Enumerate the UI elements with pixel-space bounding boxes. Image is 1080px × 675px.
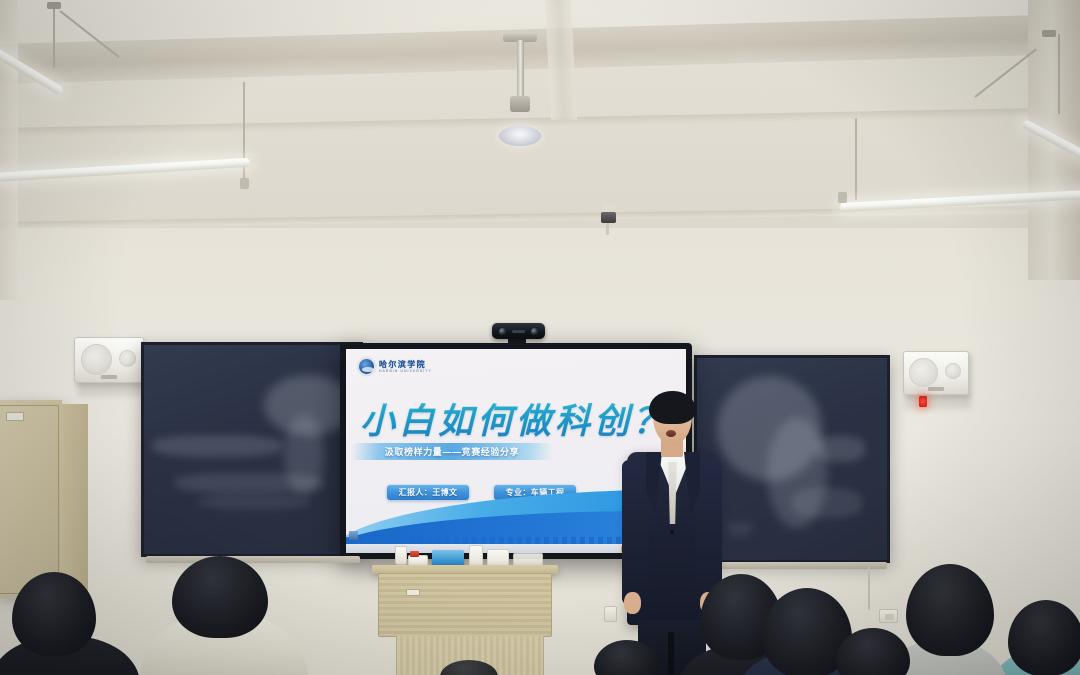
speaker-shadow [78,382,150,396]
light-rod [53,6,55,68]
pendant-head [510,96,530,112]
light-mount [47,2,61,9]
speaker-woofer-icon [81,344,112,375]
camera-mic-slit-icon [512,330,526,333]
light-mount [1042,30,1056,37]
paper-cup [395,546,407,565]
conference-camera[interactable] [492,323,545,339]
chalk-smudge [284,415,324,495]
cabinet-label [6,412,24,421]
wooden-cabinet [0,400,62,598]
presenter-mouth [666,430,676,437]
speaker-tweeter-icon [945,363,961,379]
audience-member-2 [172,556,268,638]
pendant-stem [517,40,524,98]
audience-member-1 [12,572,96,656]
speaker-brand-label [101,375,117,379]
slide-subtitle: 汲取榜样力量——竞赛经验分享 [385,445,519,458]
tissue-pack [469,545,483,566]
wall-speaker-left [74,337,144,383]
chalk-smudge [152,435,282,457]
lectern-front-panel [378,573,552,637]
chalk-tray [146,556,360,563]
university-name-cn: 哈尔滨学院 [379,360,432,369]
wall-sensor-base [602,204,615,211]
speaker-tweeter-icon [119,350,136,367]
screen-capture-icon[interactable] [349,531,358,540]
wall-sensor-arm [606,223,609,235]
presenter-pill: 汇报人：王博文 [387,485,469,500]
speaker-shadow [905,395,971,409]
speaker-woofer-icon [909,358,938,387]
tissue-pack [487,549,509,566]
slide-title: 小白如何做科创？ [346,393,686,444]
ceiling-camera-sensor [601,212,616,223]
slide-subtitle-bar: 汲取榜样力量——竞赛经验分享 [352,443,552,460]
light-rod [1058,34,1060,114]
chalk-smudge [199,495,309,509]
university-seal-icon [358,358,375,375]
pendant-downlight [499,126,541,146]
tube-endcap [240,178,249,189]
cabinet-door[interactable] [0,405,59,594]
presenter-pill-label: 汇报人：王博文 [399,487,458,498]
wall-column-left [0,0,18,300]
power-outlet[interactable] [879,609,898,623]
university-logo: 哈尔滨学院 HARBIN UNIVERSITY [358,358,432,375]
tube-endcap [838,192,847,203]
chalk-smudge [815,436,865,462]
light-rod [855,118,857,200]
blue-box [432,550,464,566]
speaker-brand-label [928,387,944,391]
chalkboard-left [141,342,363,557]
chalk-tray [697,562,887,569]
audience-member-8 [1008,600,1080,675]
chalk-smudge [792,488,862,518]
audience-member-5 [906,564,994,656]
presenter-hand-left [624,592,641,614]
camera-lens-icon [499,328,506,335]
camera-lens-icon [531,328,538,335]
display-cable [868,566,870,610]
presenter-arm-left [622,460,649,605]
classroom-photo: 哈尔滨学院 HARBIN UNIVERSITY 小白如何做科创？ 汲取榜样力量—… [0,0,1080,675]
presenter-hair-fringe [652,396,693,415]
wall-speaker-right [903,351,969,395]
presenter-jacket-button [670,530,674,534]
university-name-en: HARBIN UNIVERSITY [379,369,432,374]
light-switch[interactable] [604,606,617,622]
lectern-nameplate [406,589,420,596]
chalkboard-right [694,355,890,563]
status-led [919,396,927,407]
presenter-trouser-gap [668,632,674,675]
chalk-smudge [727,523,753,535]
marker-pen [410,551,419,557]
cabinet-side-panel [60,404,88,594]
